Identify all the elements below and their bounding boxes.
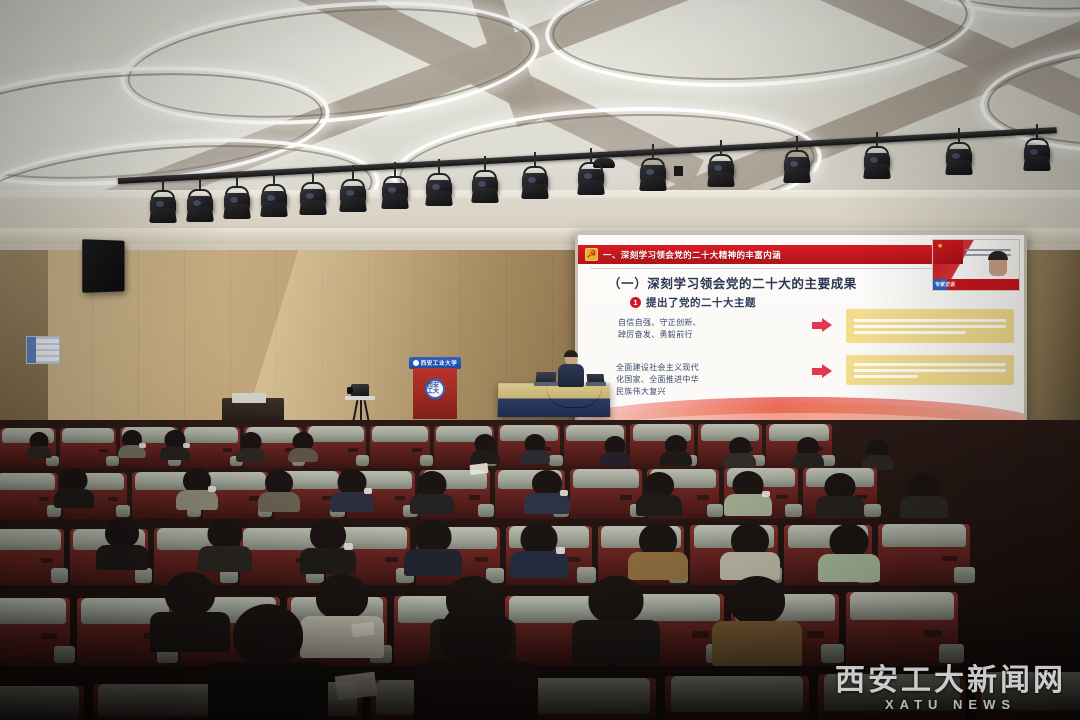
audience-person: [900, 473, 948, 518]
audience-person: [176, 468, 218, 510]
seat-row: [0, 672, 1080, 720]
handout-paper: [335, 672, 378, 701]
audience-person: [660, 435, 692, 466]
seat: [570, 469, 642, 519]
audience-area: [0, 420, 1080, 720]
cpc-emblem-icon: [585, 248, 598, 261]
stage-spotlight-icon: [424, 171, 454, 207]
university-emblem-text: 西安工大: [427, 383, 443, 395]
audience-person: [720, 523, 780, 580]
audience-person: [818, 524, 880, 582]
stage-spotlight-icon: [222, 184, 252, 220]
audience-person: [724, 471, 772, 516]
stage-spotlight-icon: [380, 174, 410, 210]
seat: [0, 686, 84, 720]
audience-person: [470, 434, 500, 464]
inset-speaker-portrait: [989, 254, 1007, 276]
stage-spotlight-icon: [148, 188, 178, 224]
slide-bullet-item: 1 提出了党的二十大主题: [630, 295, 756, 310]
china-flag-icon: [933, 240, 963, 264]
text-line: [854, 375, 918, 378]
stage-spotlight-icon: [862, 144, 892, 180]
audience-person: [258, 470, 300, 512]
university-emblem-icon: 西安工大: [425, 379, 445, 399]
slide-divider: [590, 268, 988, 269]
audience-person: [712, 576, 802, 666]
stage-spotlight-icon: [782, 148, 812, 184]
seat: [665, 676, 809, 720]
text-line: [854, 319, 1006, 322]
notice-board-accent: [27, 337, 36, 363]
audience-person: [288, 432, 318, 462]
audience-person: [208, 604, 328, 720]
photo-canvas: 一、深刻学习领会党的二十大精神的丰富内涵 （一）深刻学习领会党的二十大的主要成果…: [0, 0, 1080, 720]
stage-spotlight-icon: [576, 160, 606, 196]
podium: 西安工业大学 西安工大: [409, 357, 461, 419]
presentation-slide: 一、深刻学习领会党的二十大精神的丰富内涵 （一）深刻学习领会党的二十大的主要成果…: [578, 235, 1024, 427]
audience-person: [524, 470, 570, 514]
notice-board-lines: [36, 337, 59, 363]
slide-header-text: 一、深刻学习领会党的二十大精神的丰富内涵: [603, 249, 781, 261]
seat: [846, 592, 958, 666]
stage-spotlight-icon: [470, 168, 500, 204]
audience-person: [636, 472, 682, 516]
red-arrow-icon: [812, 364, 834, 379]
ceiling-fixture-icon: [674, 166, 683, 176]
seat: [182, 427, 240, 468]
audience-person: [300, 519, 356, 574]
text-line: [854, 369, 1006, 372]
speaker-torso: [558, 364, 584, 387]
audience-person: [404, 520, 462, 576]
stage-spotlight-icon: [259, 182, 289, 218]
red-arrow-icon: [812, 318, 834, 333]
text-line: [854, 325, 1006, 328]
audience-person: [520, 434, 550, 464]
podium-sign-text: 西安工业大学: [421, 359, 458, 367]
podium-sign-logo-icon: [413, 360, 419, 366]
audience-person: [600, 436, 630, 466]
audience-person: [414, 602, 538, 720]
audience-person: [118, 430, 146, 458]
inset-lower-third: 专家访谈: [933, 279, 1019, 290]
slide-gold-box: [846, 309, 1014, 343]
audience-person: [628, 523, 688, 580]
slide-left-text-1: 自信自强、守正创新、 踔厉奋发、勇毅前行: [618, 317, 701, 341]
slide-bullet-text: 提出了党的二十大主题: [646, 295, 756, 310]
seat: [0, 598, 70, 666]
audience-person: [198, 518, 252, 572]
stage-spotlight-icon: [944, 140, 974, 176]
stage-spotlight-icon: [1022, 136, 1052, 172]
speaker-person: [558, 352, 584, 386]
ring-light: [542, 0, 978, 97]
seat: [878, 524, 970, 585]
audience-person: [54, 468, 94, 508]
audience-person: [160, 430, 190, 460]
audience-person: [510, 522, 568, 578]
audience-person: [96, 518, 148, 570]
audience-person: [410, 471, 454, 514]
stage-spotlight-icon: [638, 156, 668, 192]
audience-person: [572, 576, 660, 664]
bullet-number-badge: 1: [630, 297, 641, 308]
stage-spotlight-icon: [185, 187, 215, 223]
stage-equipment: [232, 393, 266, 403]
inset-label: 专家访谈: [935, 281, 955, 288]
text-line: [854, 363, 1006, 366]
audience-person: [816, 473, 864, 518]
text-line: [854, 331, 966, 334]
audience-person: [862, 439, 894, 470]
audience-person: [724, 437, 756, 468]
video-thumbnail-inset[interactable]: 专家访谈: [932, 239, 1020, 291]
seat: [93, 684, 221, 720]
projection-screen: 一、深刻学习领会党的二十大精神的丰富内涵 （一）深刻学习领会党的二十大的主要成果…: [575, 232, 1027, 430]
seat: [0, 529, 64, 585]
seat: [818, 674, 966, 720]
audience-person: [26, 432, 52, 458]
seat: [60, 428, 116, 468]
stage-spotlight-icon: [338, 177, 368, 213]
wall-speaker-icon: [82, 239, 124, 293]
audience-person: [330, 469, 374, 512]
stage-spotlight-icon: [298, 180, 328, 216]
stage-spotlight-icon: [520, 164, 550, 200]
audience-person: [792, 437, 824, 468]
slide-header-bar: 一、深刻学习领会党的二十大精神的丰富内涵: [578, 245, 946, 264]
laptop-icon: [534, 372, 558, 386]
stage-spotlight-icon: [706, 152, 736, 188]
slide-subtitle: （一）深刻学习领会党的二十大的主要成果: [608, 273, 857, 292]
seat: [370, 426, 430, 468]
seat: [975, 672, 1080, 720]
wall-notice-board: [26, 336, 60, 364]
audience-person: [236, 432, 266, 462]
seat: [0, 473, 58, 519]
handout-paper: [351, 622, 374, 638]
laptop-icon: [586, 374, 606, 386]
